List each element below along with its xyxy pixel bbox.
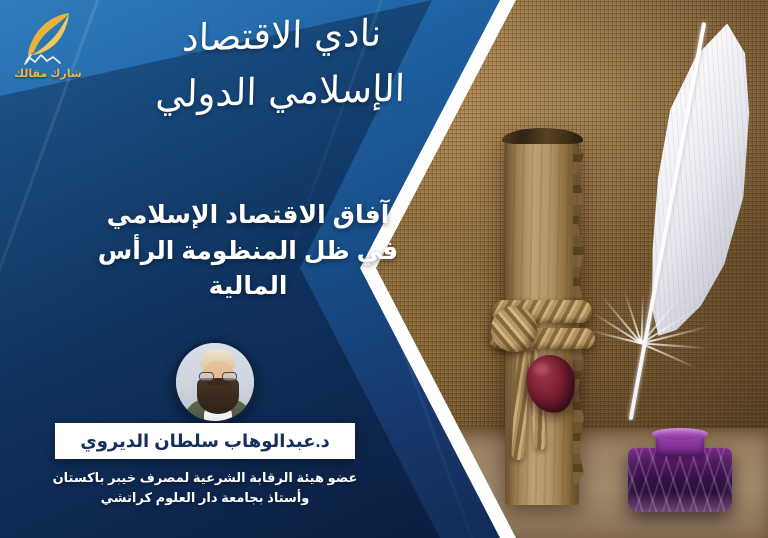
speaker-name: د.عبدالوهاب سلطان الديروي <box>80 431 330 452</box>
rope-knot <box>491 306 537 352</box>
title-line-1: آفاق الاقتصاد الإسلامي <box>78 198 418 234</box>
avatar-glasses-icon <box>199 372 237 381</box>
speaker-name-banner: د.عبدالوهاب سلطان الديروي <box>55 423 355 459</box>
club-name-heading: نادي الاقتصاد الإسلامي الدولي <box>114 4 447 124</box>
title-line-2: في ظل المنظومة الرأس المالية <box>78 234 418 305</box>
inkwell-glass-facets <box>628 448 732 512</box>
speaker-credentials: عضو هيئة الرقابة الشرعية لمصرف خيبر باكس… <box>40 468 370 508</box>
credential-line-1: عضو هيئة الرقابة الشرعية لمصرف خيبر باكس… <box>40 468 370 488</box>
credential-line-2: وأستاذ بجامعة دار العلوم كراتشي <box>40 488 370 508</box>
inkwell-rim <box>652 428 708 440</box>
club-logo[interactable]: شارك مقالك <box>12 8 86 78</box>
avatar <box>173 340 257 424</box>
logo-tagline: شارك مقالك <box>14 67 82 80</box>
inkwell <box>628 432 732 512</box>
feather-wisps <box>577 277 749 426</box>
golden-feather-quill-icon <box>12 8 86 72</box>
page-title: آفاق الاقتصاد الإسلامي في ظل المنظومة ال… <box>78 198 418 305</box>
poster-banner: شارك مقالك نادي الاقتصاد الإسلامي الدولي… <box>0 0 768 538</box>
